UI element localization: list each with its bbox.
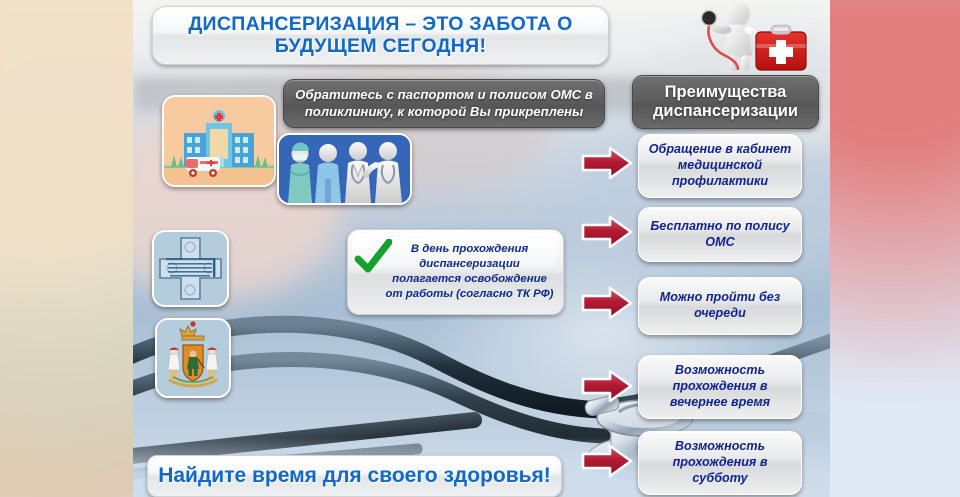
arrow-right-icon [580, 214, 634, 250]
benefit-box: Возможность прохождения в субботу [638, 431, 802, 495]
footer-text: Найдите время для своего здоровья! [158, 464, 551, 488]
footer-banner: Найдите время для своего здоровья! [147, 455, 562, 497]
benefit-text: Возможность прохождения в вечернее время [639, 363, 801, 411]
benefit-text: Возможность прохождения в субботу [639, 439, 801, 487]
benefit-text: Бесплатно по полису ОМС [639, 219, 801, 251]
hospital-building-icon [162, 95, 276, 187]
instruction-text: Обратитесь с паспортом и полисом ОМС в п… [284, 87, 604, 120]
benefit-text: Обращение в кабинет медицинской профилак… [639, 142, 801, 190]
poster-canvas: ДИСПАНСЕРИЗАЦИЯ – ЭТО ЗАБОТА О БУДУЩЕМ С… [0, 0, 960, 497]
arrow-right-icon [580, 285, 634, 321]
page-title: ДИСПАНСЕРИЗАЦИЯ – ЭТО ЗАБОТА О БУДУЩЕМ С… [152, 6, 609, 65]
benefit-box: Можно пройти без очереди [638, 277, 802, 335]
instruction-banner: Обратитесь с паспортом и полисом ОМС в п… [283, 79, 605, 128]
benefit-box: Возможность прохождения в вечернее время [638, 355, 802, 419]
regional-coat-of-arms-icon [155, 318, 231, 398]
advantages-header-text: Преимущества диспансеризации [633, 83, 818, 121]
arrow-right-icon [580, 368, 634, 404]
exemption-note: В день прохождения диспансеризации полаг… [347, 229, 564, 315]
advantages-header: Преимущества диспансеризации [632, 75, 819, 129]
benefit-box: Обращение в кабинет медицинской профилак… [638, 134, 802, 198]
arrow-right-icon [580, 145, 634, 181]
check-icon [354, 239, 392, 277]
benefit-box: Бесплатно по полису ОМС [638, 207, 802, 262]
public-health-center-logo [152, 230, 229, 307]
doctor-mascot-icon [690, 0, 820, 72]
arrow-right-icon [580, 443, 634, 479]
page-title-text: ДИСПАНСЕРИЗАЦИЯ – ЭТО ЗАБОТА О БУДУЩЕМ С… [153, 14, 608, 56]
medical-staff-icon [277, 133, 412, 205]
benefit-text: Можно пройти без очереди [639, 290, 801, 322]
